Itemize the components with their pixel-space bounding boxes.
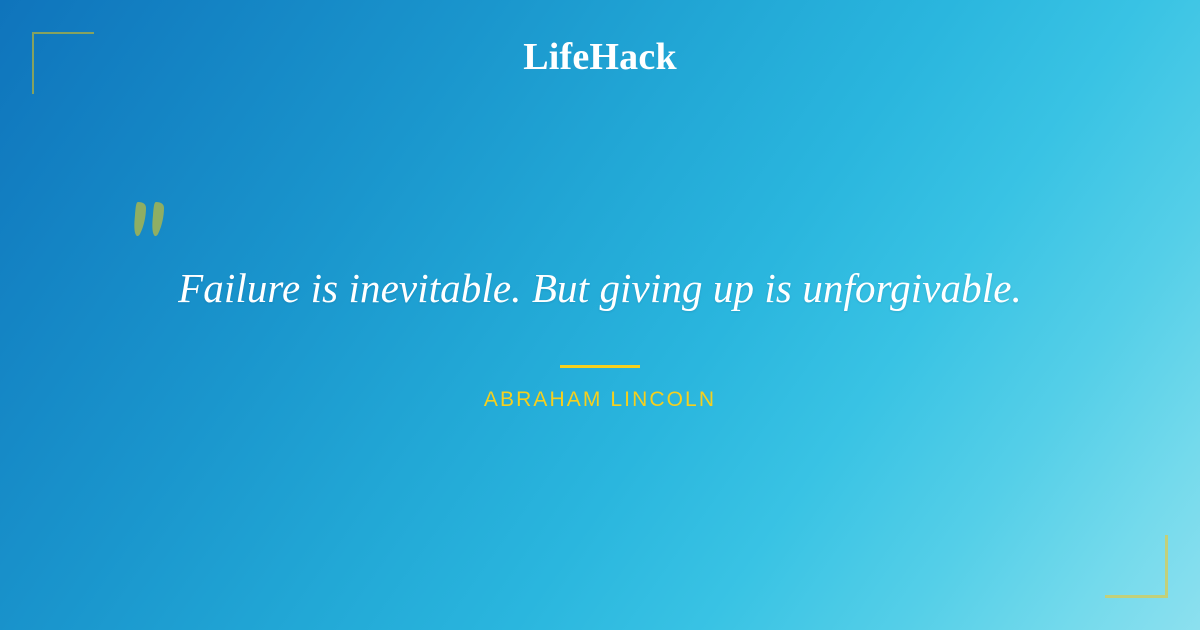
quote-card: LifeHack Failure is inevitable. But givi… [0,0,1200,630]
divider-wrapper [0,358,1200,376]
lifehack-logo: LifeHack [0,38,1200,76]
quote-text: Failure is inevitable. But giving up is … [178,262,1022,314]
quotation-mark-icon [132,200,176,246]
corner-bracket-bottom-right-icon [1105,535,1168,598]
quote-divider [560,365,640,368]
author-wrapper: ABRAHAM LINCOLN [0,389,1200,411]
quote-block: Failure is inevitable. But giving up is … [0,262,1200,314]
quote-author: ABRAHAM LINCOLN [484,389,716,410]
